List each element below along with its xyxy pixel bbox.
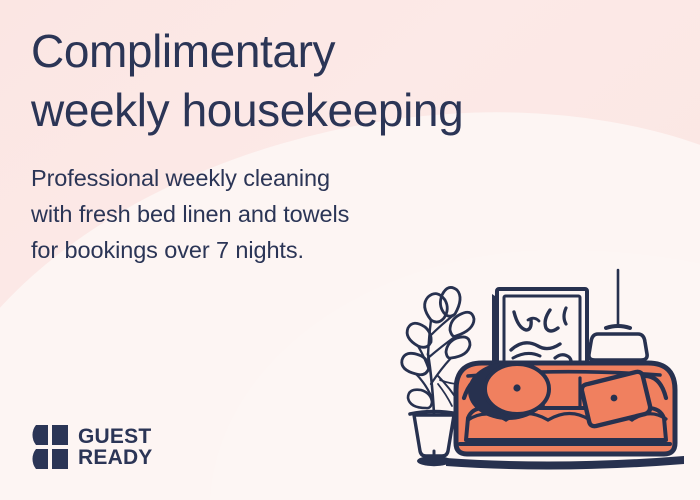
banner-description: Professional weekly cleaning with fresh … bbox=[31, 160, 451, 269]
living-room-illustration bbox=[398, 258, 700, 500]
guestready-logo: GUEST READY bbox=[31, 424, 153, 470]
sofa-icon bbox=[446, 362, 684, 470]
page-title: Complimentary weekly housekeeping bbox=[31, 22, 651, 141]
guestready-quadrant-mark-icon bbox=[31, 424, 69, 470]
promo-banner: Complimentary weekly housekeeping Profes… bbox=[0, 0, 700, 500]
guestready-logo-text: GUEST READY bbox=[78, 426, 153, 469]
